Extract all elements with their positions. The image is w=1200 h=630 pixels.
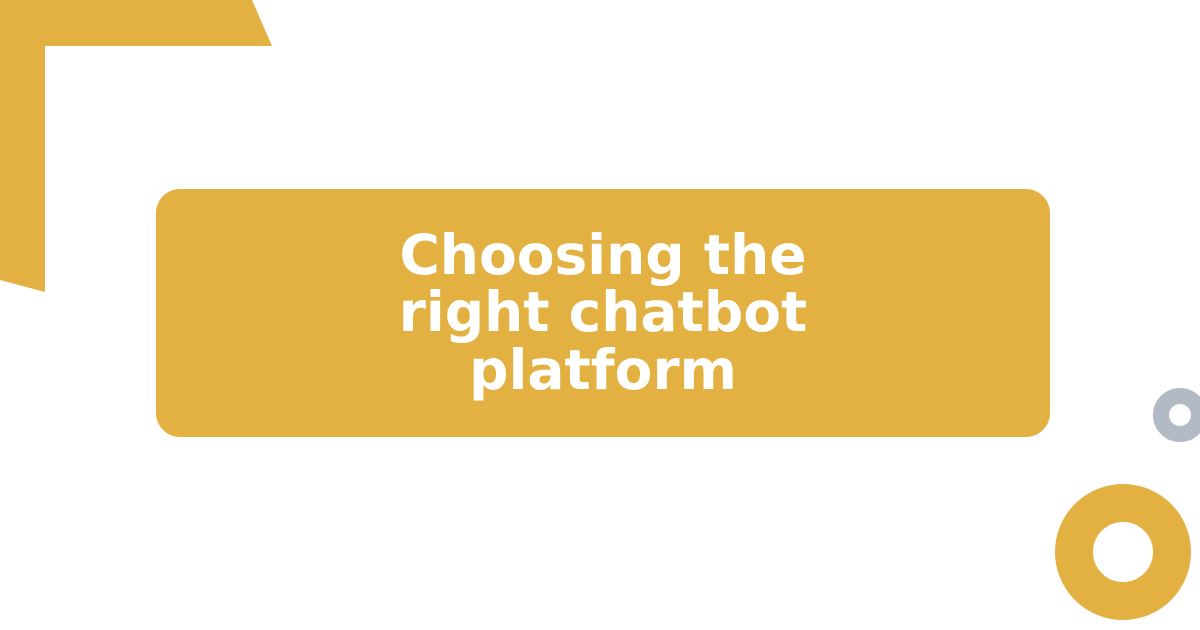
gold-ring-decoration <box>1055 484 1191 620</box>
page-title: Choosing the right chatbot platform <box>353 227 853 399</box>
share-card-canvas: Choosing the right chatbot platform <box>0 0 1200 630</box>
title-card: Choosing the right chatbot platform <box>156 189 1050 437</box>
gray-ring-decoration <box>1153 388 1200 442</box>
